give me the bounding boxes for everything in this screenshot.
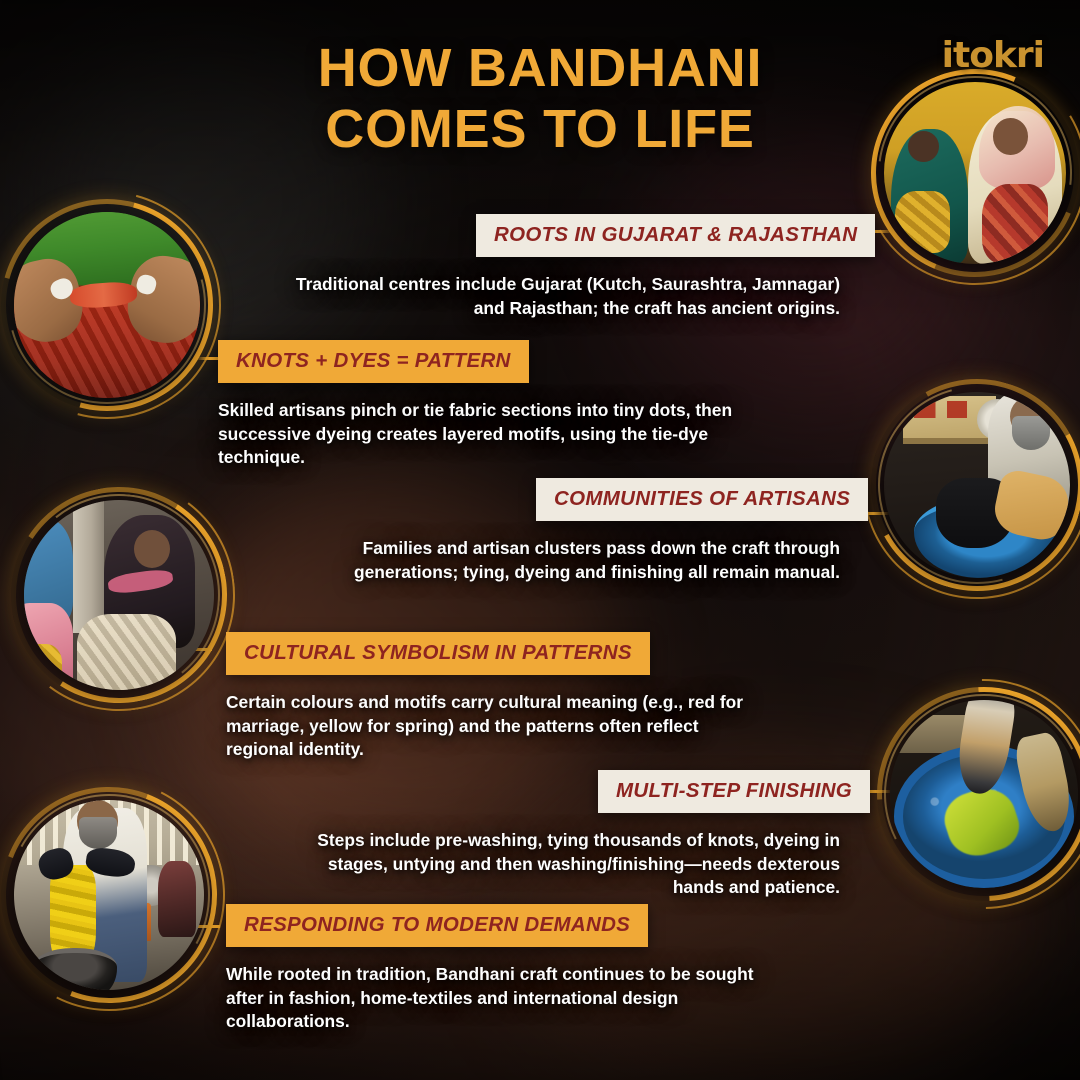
page-title-line-1: HOW BANDHANI: [318, 38, 763, 98]
step-responding-to-modern-demands: RESPONDING TO MODERN DEMANDS While roote…: [226, 904, 786, 1034]
step-banner-label: CULTURAL SYMBOLISM IN PATTERNS: [226, 632, 650, 675]
scene-hands-red-fabric: [14, 212, 200, 398]
scene-women-sorting-cloth: [24, 500, 214, 690]
step-body-text: Steps include pre-washing, tying thousan…: [306, 829, 840, 900]
step-multi-step-finishing: MULTI-STEP FINISHING Steps include pre-w…: [598, 770, 840, 900]
photo-disc: [890, 700, 1078, 888]
step-cultural-symbolism-in-patterns: CULTURAL SYMBOLISM IN PATTERNS Certain c…: [226, 632, 786, 762]
infographic-poster: itokri HOW BANDHANI COMES TO LIFE: [0, 0, 1080, 1080]
photo-blue-dye-vat: [890, 700, 1078, 888]
scene-dyer-blue-tub: [884, 392, 1070, 578]
step-banner-label: MULTI-STEP FINISHING: [598, 770, 870, 813]
step-banner-label: KNOTS + DYES = PATTERN: [218, 340, 529, 383]
itokri-logo: itokri: [942, 38, 1044, 74]
photo-disc: [14, 800, 204, 990]
step-body-text: Families and artisan clusters pass down …: [306, 537, 840, 584]
step-banner-label: ROOTS IN GUJARAT & RAJASTHAN: [476, 214, 875, 257]
step-body-text: Certain colours and motifs carry cultura…: [226, 691, 766, 762]
scene-yellow-skein-dyeing: [14, 800, 204, 990]
photo-yellow-skein-dyeing: [14, 800, 204, 990]
step-body-text: While rooted in tradition, Bandhani craf…: [226, 963, 776, 1034]
photo-dyer-blue-tub: [884, 392, 1070, 578]
step-body-text: Skilled artisans pinch or tie fabric sec…: [218, 399, 752, 470]
step-roots-in-gujarat-rajasthan: ROOTS IN GUJARAT & RAJASTHAN Traditional…: [476, 214, 840, 320]
step-communities-of-artisans: COMMUNITIES OF ARTISANS Families and art…: [536, 478, 840, 584]
photo-hands-red-fabric: [14, 212, 200, 398]
step-body-text: Traditional centres include Gujarat (Kut…: [280, 273, 840, 320]
photo-disc: [884, 392, 1070, 578]
step-banner-label: RESPONDING TO MODERN DEMANDS: [226, 904, 648, 947]
page-title: HOW BANDHANI COMES TO LIFE: [0, 38, 1080, 160]
scene-blue-dye-vat: [890, 700, 1078, 888]
photo-disc: [14, 212, 200, 398]
step-knots-dyes-pattern: KNOTS + DYES = PATTERN Skilled artisans …: [218, 340, 778, 470]
page-title-line-2: COMES TO LIFE: [0, 99, 1080, 160]
photo-disc: [24, 500, 214, 690]
photo-women-sorting-cloth: [24, 500, 214, 690]
step-banner-label: COMMUNITIES OF ARTISANS: [536, 478, 868, 521]
